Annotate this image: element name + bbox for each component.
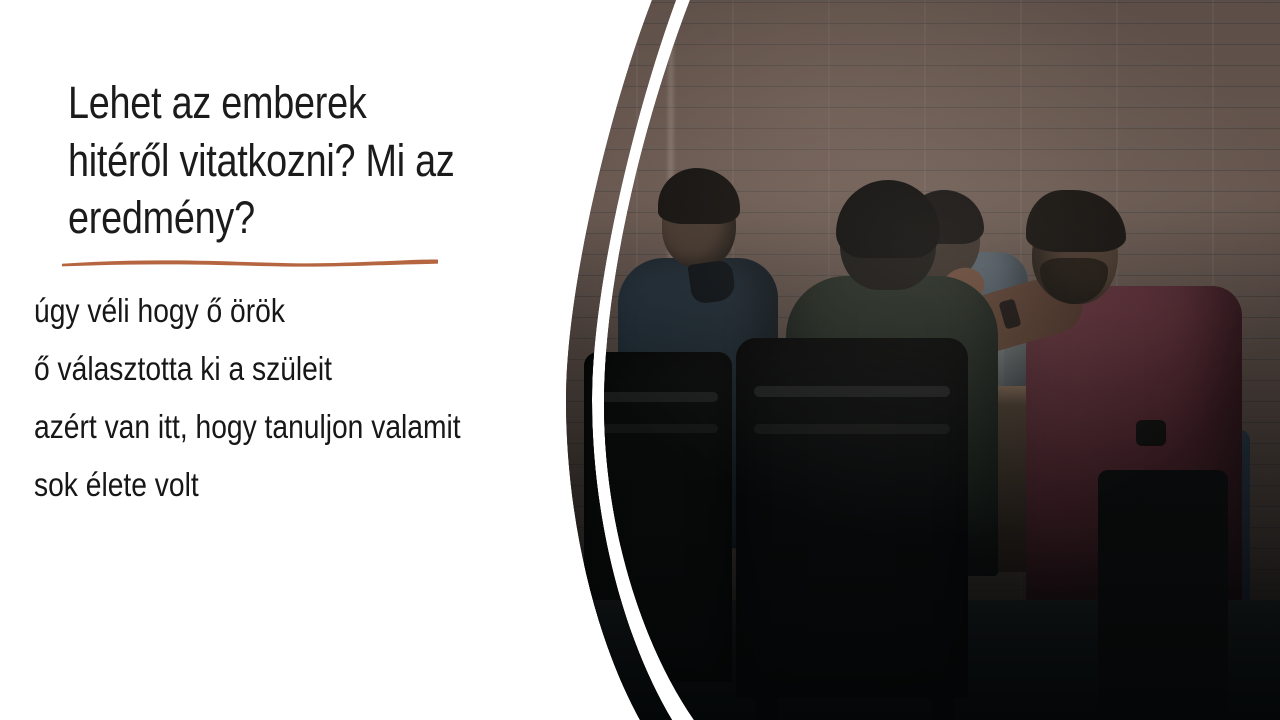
photo-scene	[540, 0, 1280, 720]
body-bullet-list: úgy véli hogy ő örök ő választotta ki a …	[34, 294, 554, 501]
body-line: azért van itt, hogy tanuljon valamit	[34, 410, 479, 443]
wristwatch	[1136, 420, 1166, 446]
chair-slat-gap	[598, 392, 718, 402]
text-column: Lehet az emberek hitéről vitatkozni? Mi …	[0, 0, 560, 720]
slide-title: Lehet az emberek hitéről vitatkozni? Mi …	[68, 74, 463, 247]
foreground-chair-right	[1098, 470, 1228, 720]
chair-slat-gap	[754, 424, 950, 434]
body-line: úgy véli hogy ő örök	[34, 294, 479, 327]
brush-stroke-divider	[60, 252, 440, 272]
chair-slat-gap	[598, 424, 718, 433]
body-line: ő választotta ki a szüleit	[34, 352, 479, 385]
body-line: sok élete volt	[34, 468, 479, 501]
presentation-slide: Lehet az emberek hitéről vitatkozni? Mi …	[0, 0, 1280, 720]
chair-slat-gap	[754, 386, 950, 397]
